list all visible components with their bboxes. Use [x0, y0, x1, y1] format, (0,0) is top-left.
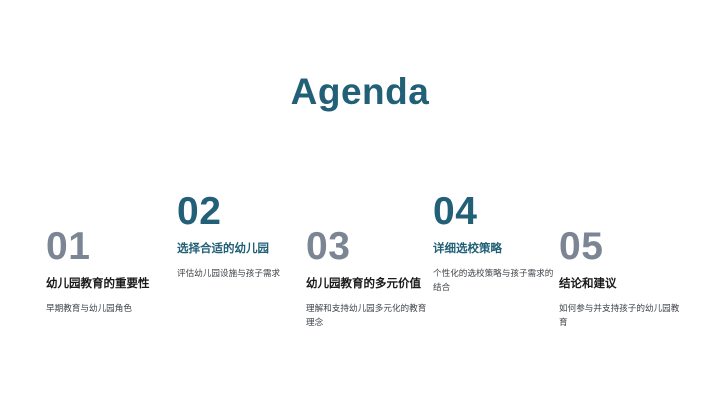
- agenda-item-02[interactable]: 02 选择合适的幼儿园 评估幼儿园设施与孩子需求: [177, 190, 303, 280]
- agenda-item-04[interactable]: 04 详细选校策略 个性化的选校策略与孩子需求的结合: [433, 190, 559, 294]
- agenda-item-title: 结论和建议: [559, 277, 685, 292]
- agenda-item-description: 如何参与并支持孩子的幼儿园教育: [559, 301, 683, 329]
- agenda-item-title: 幼儿园教育的重要性: [46, 277, 172, 292]
- agenda-item-title: 幼儿园教育的多元价值: [306, 277, 432, 292]
- agenda-item-list: 01 幼儿园教育的重要性 早期教育与幼儿园角色 02 选择合适的幼儿园 评估幼儿…: [0, 180, 720, 370]
- agenda-slide: Agenda 01 幼儿园教育的重要性 早期教育与幼儿园角色 02 选择合适的幼…: [0, 0, 720, 404]
- agenda-item-number: 02: [177, 190, 303, 234]
- agenda-item-title: 选择合适的幼儿园: [177, 242, 303, 257]
- agenda-item-title: 详细选校策略: [433, 242, 559, 257]
- agenda-item-number: 01: [46, 225, 172, 269]
- agenda-item-number: 05: [559, 225, 685, 269]
- agenda-item-description: 个性化的选校策略与孩子需求的结合: [433, 266, 557, 294]
- agenda-item-03[interactable]: 03 幼儿园教育的多元价值 理解和支持幼儿园多元化的教育理念: [306, 225, 432, 329]
- agenda-item-number: 03: [306, 225, 432, 269]
- page-title: Agenda: [0, 70, 720, 114]
- agenda-item-01[interactable]: 01 幼儿园教育的重要性 早期教育与幼儿园角色: [46, 225, 172, 315]
- agenda-item-05[interactable]: 05 结论和建议 如何参与并支持孩子的幼儿园教育: [559, 225, 685, 329]
- agenda-item-number: 04: [433, 190, 559, 234]
- agenda-item-description: 早期教育与幼儿园角色: [46, 301, 170, 315]
- agenda-item-description: 理解和支持幼儿园多元化的教育理念: [306, 301, 430, 329]
- agenda-item-description: 评估幼儿园设施与孩子需求: [177, 266, 301, 280]
